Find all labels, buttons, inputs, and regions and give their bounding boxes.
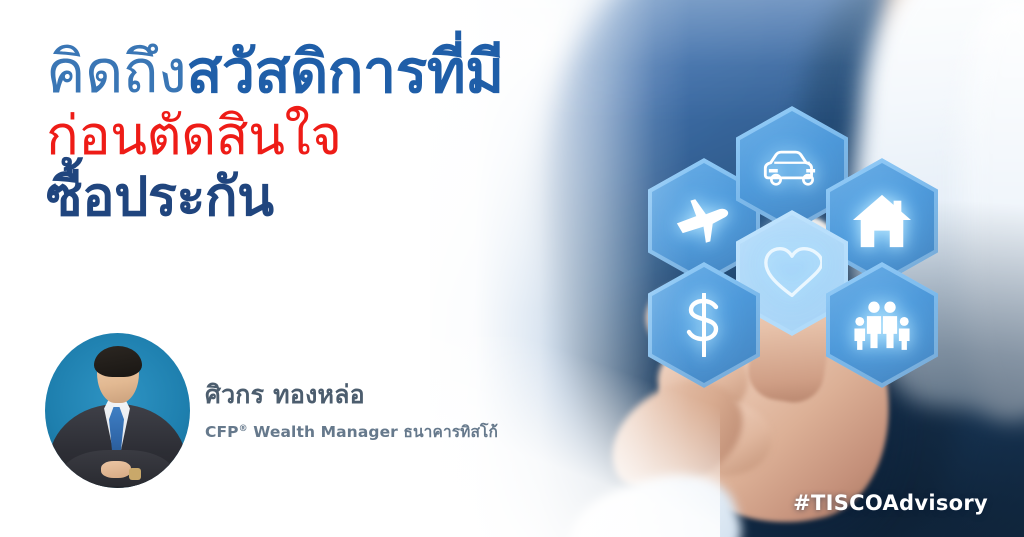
headline: คิดถึงสวัสดิการที่มี ก่อนตัดสินใจ ซื้อปร… bbox=[46, 42, 646, 224]
headline-line-1-bold: สวัสดิการที่มี bbox=[186, 37, 503, 106]
heart-icon bbox=[762, 245, 822, 301]
house-icon bbox=[851, 192, 913, 250]
family-icon bbox=[850, 300, 914, 350]
presenter-text: ศิวกร ทองหล่อ CFP® Wealth Manager ธนาคาร… bbox=[205, 375, 498, 444]
car-icon bbox=[760, 146, 824, 192]
headline-line-2: ก่อนตัดสินใจ bbox=[46, 108, 646, 163]
presenter-title: CFP® Wealth Manager ธนาคารทิสโก้ bbox=[205, 419, 498, 444]
presenter-name: ศิวกร ทองหล่อ bbox=[205, 375, 498, 415]
headline-line-3: ซื้อประกัน bbox=[46, 169, 646, 224]
insurance-promo-banner: คิดถึงสวัสดิการที่มี ก่อนตัดสินใจ ซื้อปร… bbox=[0, 0, 1024, 537]
hashtag: #TISCOAdvisory bbox=[793, 491, 988, 515]
presenter-title-rest: Wealth Manager ธนาคารทิสโก้ bbox=[248, 423, 498, 441]
headline-line-1-light: คิดถึง bbox=[46, 37, 186, 106]
avatar-hair bbox=[94, 346, 142, 377]
presenter-block: ศิวกร ทองหล่อ CFP® Wealth Manager ธนาคาร… bbox=[45, 333, 565, 508]
headline-line-1: คิดถึงสวัสดิการที่มี bbox=[46, 42, 646, 102]
registered-mark-icon: ® bbox=[239, 424, 248, 434]
avatar bbox=[45, 333, 190, 488]
presenter-title-prefix: CFP bbox=[205, 423, 239, 441]
avatar-hand bbox=[101, 461, 131, 478]
avatar-watch bbox=[129, 468, 141, 480]
